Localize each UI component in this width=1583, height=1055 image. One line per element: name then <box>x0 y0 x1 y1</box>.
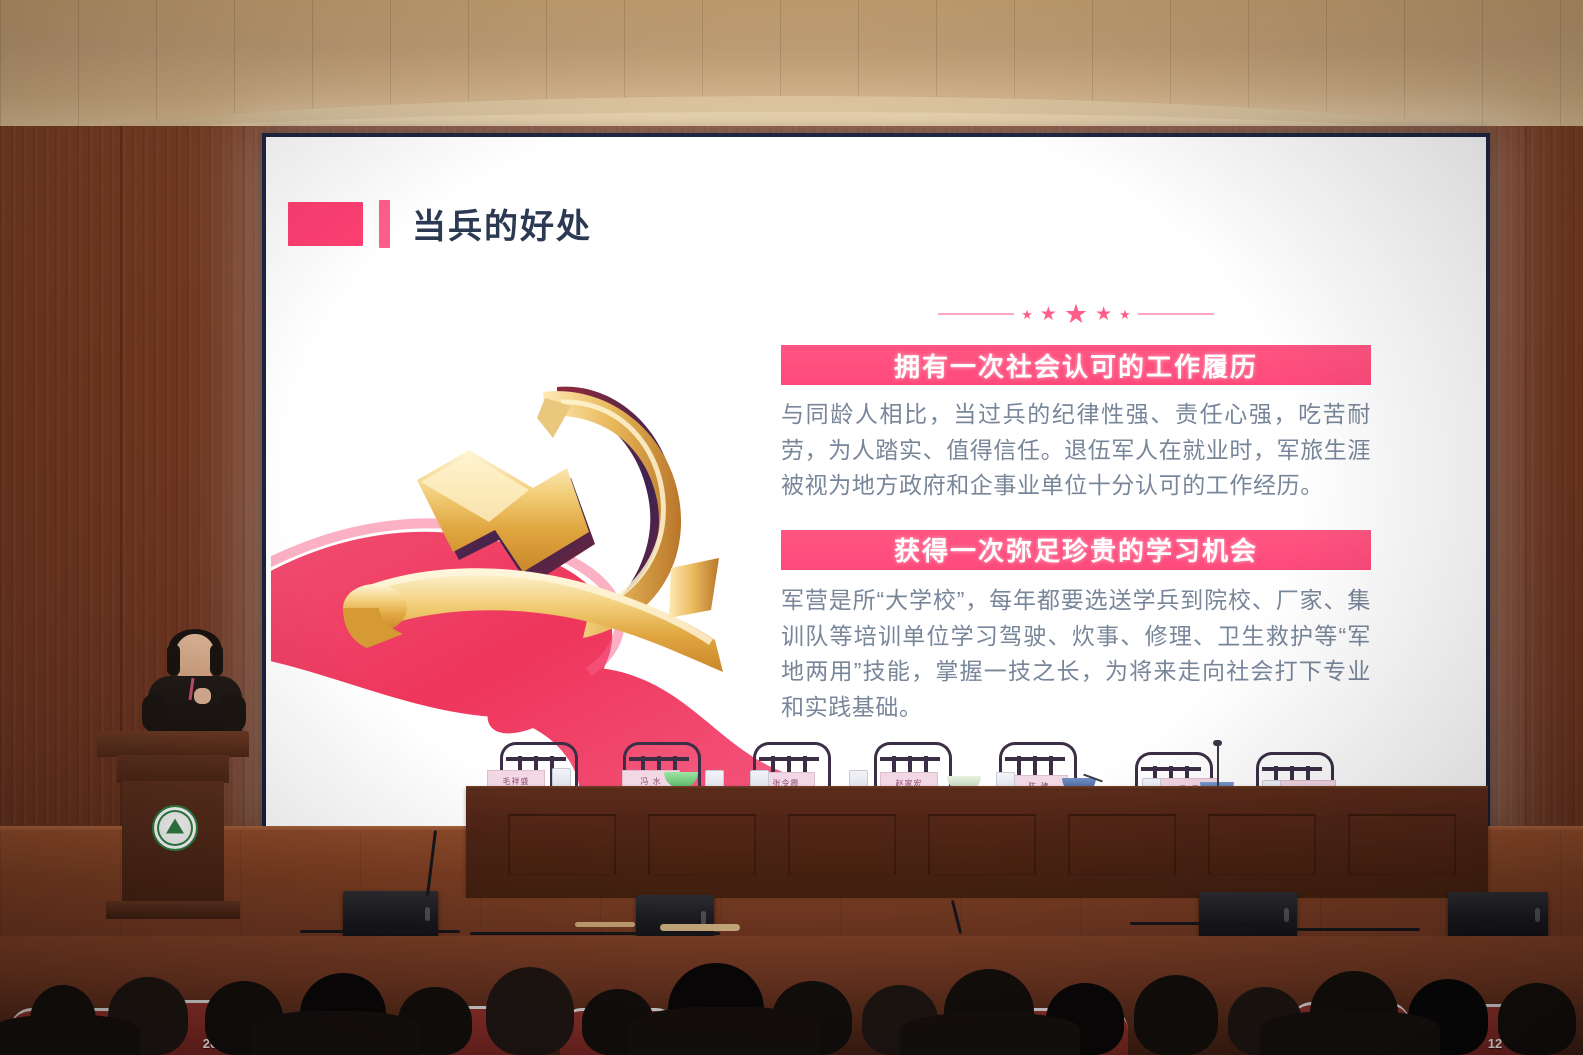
page-title: 当兵的好处 <box>412 199 592 248</box>
podium-body <box>122 781 224 905</box>
presenter <box>140 634 250 744</box>
audience-area: 20 13 12 <box>0 936 1583 1055</box>
section-banner-2: 获得一次弥足珍贵的学习机会 <box>781 530 1371 570</box>
divider-line-left <box>938 313 1014 315</box>
presenter-hand <box>194 688 211 704</box>
audience-shoulder <box>630 1007 820 1055</box>
wall-seam <box>243 126 245 936</box>
star-icon: ★ <box>1095 305 1112 324</box>
audience-head <box>486 967 574 1055</box>
audience-shoulder <box>0 1015 140 1055</box>
podium-top <box>97 731 249 757</box>
audience-head <box>1134 975 1218 1055</box>
wall-seam <box>1525 126 1527 936</box>
led-screen: 当兵的好处 <box>266 137 1486 829</box>
slide-title-block: 当兵的好处 <box>288 199 592 248</box>
title-accent-bar <box>379 200 390 248</box>
podium-neck <box>117 755 229 783</box>
star-icon: ★ <box>1040 305 1057 324</box>
section-banner-1-text: 拥有一次社会认可的工作履历 <box>894 347 1258 384</box>
taped-cable-cover <box>660 924 740 931</box>
title-accent-rectangle <box>288 202 363 246</box>
audience-head <box>1498 983 1576 1055</box>
stage-monitor-speaker <box>1199 892 1297 938</box>
divider-line-right <box>1138 313 1214 315</box>
stage-cable <box>470 932 720 935</box>
podium-base <box>106 901 240 919</box>
slide-right-column: ★ ★ ★ ★ ★ 拥有一次社会认可的工作履历 与同龄人相比，当过兵的纪律性强、… <box>781 297 1371 725</box>
star-icon: ★ <box>1119 308 1131 321</box>
stage-cable <box>300 930 460 933</box>
microphone-stand <box>1217 744 1219 786</box>
star-icon: ★ <box>1021 308 1033 321</box>
stage-cable <box>1270 928 1420 931</box>
auditorium-photo: 当兵的好处 <box>0 0 1583 1055</box>
section-banner-1: 拥有一次社会认可的工作履历 <box>781 345 1371 385</box>
audience-shoulder <box>1260 1011 1440 1055</box>
audience-shoulder <box>900 1013 1080 1055</box>
section-banner-2-text: 获得一次弥足珍贵的学习机会 <box>894 531 1258 568</box>
microphone-head <box>1213 740 1222 746</box>
star-icon: ★ <box>1064 301 1088 328</box>
stage-monitor-speaker <box>1448 892 1548 938</box>
school-crest-icon <box>152 805 198 851</box>
taped-cable-cover <box>575 922 635 927</box>
head-table <box>466 790 1488 898</box>
star-divider: ★ ★ ★ ★ ★ <box>781 297 1371 331</box>
section-body-1: 与同龄人相比，当过兵的纪律性强、责任心强，吃苦耐劳，为人踏实、值得信任。退伍军人… <box>781 397 1371 504</box>
stage-cable <box>1130 922 1250 925</box>
section-body-2: 军营是所“大学校”，每年都要选送学兵到院校、厂家、集训队等培训单位学习驾驶、炊事… <box>781 583 1371 726</box>
audience-shoulder <box>250 1011 420 1055</box>
